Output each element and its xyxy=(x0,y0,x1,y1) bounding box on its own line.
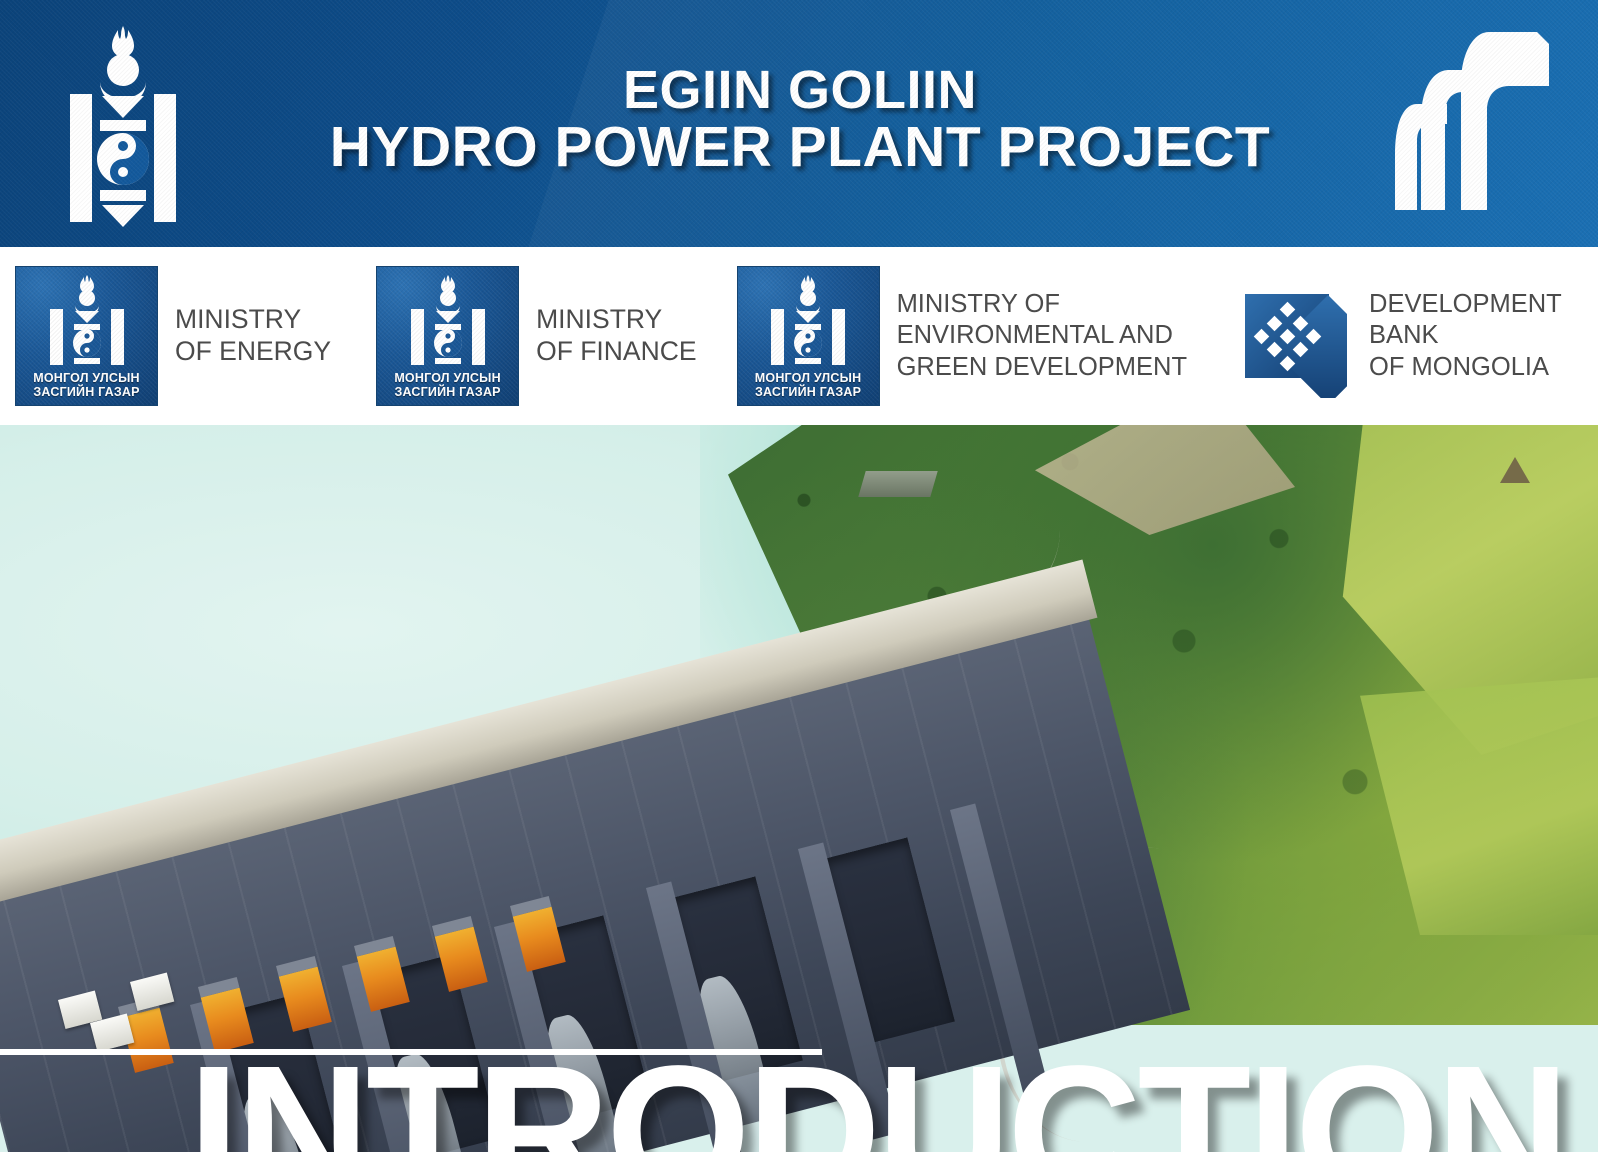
partner-ministry-of-finance[interactable]: МОНГОЛ УЛСЫН ЗАСГИЙН ГАЗАР MINISTRY OF F… xyxy=(376,266,696,406)
government-of-mongolia-badge: МОНГОЛ УЛСЫН ЗАСГИЙН ГАЗАР xyxy=(376,266,519,406)
section-title: INTRODUCTION xyxy=(188,1039,1598,1152)
badge-caption: МОНГОЛ УЛСЫН ЗАСГИЙН ГАЗАР xyxy=(738,371,879,399)
badge-caption: МОНГОЛ УЛСЫН ЗАСГИЙН ГАЗАР xyxy=(377,371,518,399)
partner-logo-strip: МОНГОЛ УЛСЫН ЗАСГИЙН ГАЗАР MINISTRY OF E… xyxy=(0,247,1598,425)
government-of-mongolia-badge: МОНГОЛ УЛСЫН ЗАСГИЙН ГАЗАР xyxy=(737,266,880,406)
egiin-gol-project-logo-icon xyxy=(1383,22,1563,227)
page-title-line2: HYDRO POWER PLANT PROJECT xyxy=(300,118,1300,177)
slide-page: EGIIN GOLIIN HYDRO POWER PLANT PROJECT xyxy=(0,0,1598,1152)
government-of-mongolia-badge: МОНГОЛ УЛСЫН ЗАСГИЙН ГАЗАР xyxy=(15,266,158,406)
soyombo-emblem-icon xyxy=(765,273,851,369)
partner-name: MINISTRY OF ENVIRONMENTAL AND GREEN DEVE… xyxy=(897,289,1187,382)
partner-name: DEVELOPMENT BANK OF MONGOLIA xyxy=(1369,289,1562,382)
endless-knot-diamond-icon xyxy=(1227,274,1347,398)
soyombo-emblem-icon xyxy=(62,22,184,227)
partner-development-bank-of-mongolia[interactable]: DEVELOPMENT BANK OF MONGOLIA xyxy=(1227,266,1562,406)
partner-ministry-of-environmental-and-green-development[interactable]: МОНГОЛ УЛСЫН ЗАСГИЙН ГАЗАР MINISTRY OF E… xyxy=(737,266,1187,406)
badge-caption: МОНГОЛ УЛСЫН ЗАСГИЙН ГАЗАР xyxy=(16,371,157,399)
slide-header: EGIIN GOLIIN HYDRO POWER PLANT PROJECT xyxy=(0,0,1598,247)
soyombo-emblem-icon xyxy=(44,273,130,369)
soyombo-emblem-icon xyxy=(405,273,491,369)
section-photo: INTRODUCTION xyxy=(0,425,1598,1152)
partner-name: MINISTRY OF ENERGY xyxy=(175,304,331,368)
page-title-line1: EGIIN GOLIIN xyxy=(300,62,1300,118)
partner-ministry-of-energy[interactable]: МОНГОЛ УЛСЫН ЗАСГИЙН ГАЗАР MINISTRY OF E… xyxy=(15,266,331,406)
page-title: EGIIN GOLIIN HYDRO POWER PLANT PROJECT xyxy=(300,62,1300,177)
partner-name: MINISTRY OF FINANCE xyxy=(536,304,696,368)
building-roof xyxy=(858,471,937,497)
